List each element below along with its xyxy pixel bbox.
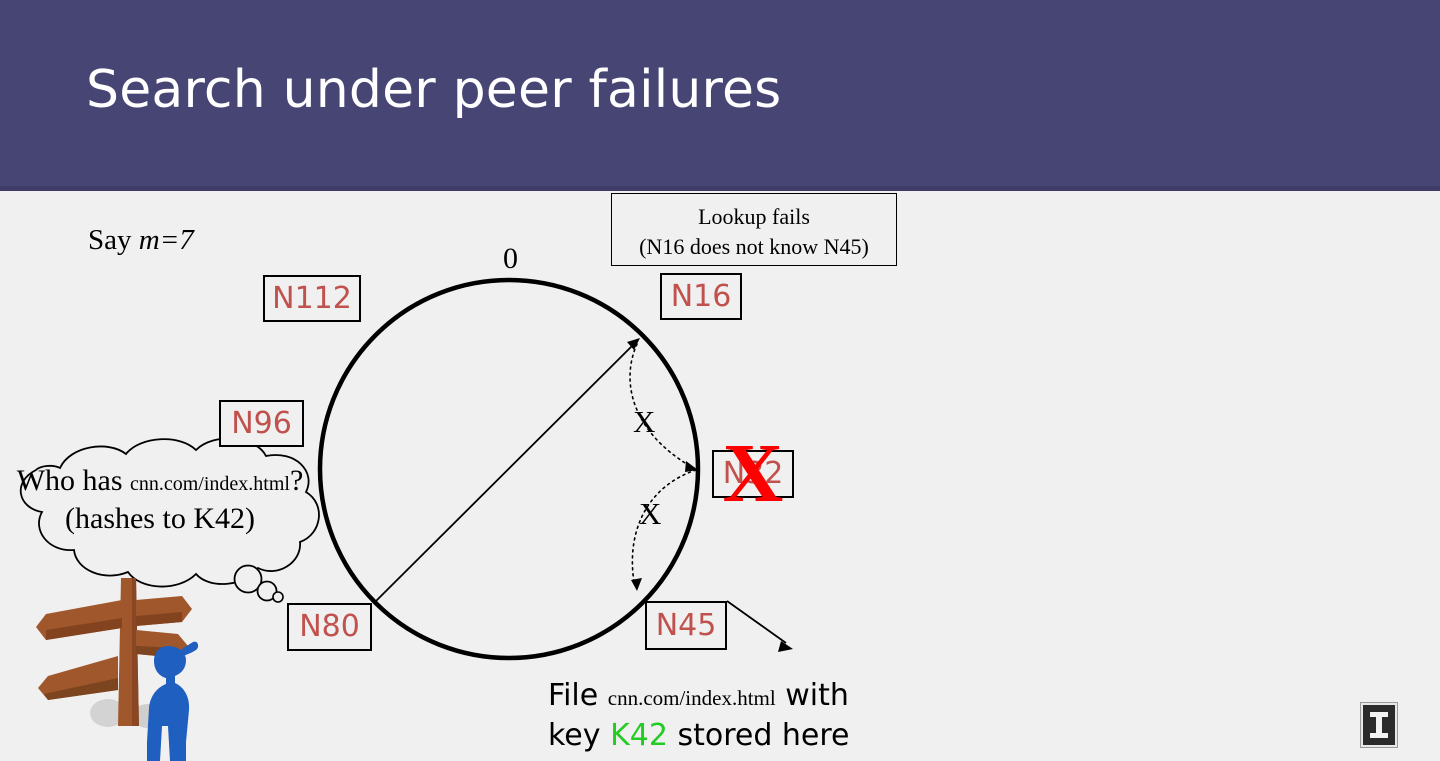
node-box-n96[interactable]: N96 [219, 400, 304, 447]
file-caption-word-file: File [548, 678, 608, 713]
hop-failure-mark-lower: X [639, 496, 661, 532]
file-caption-url: cnn.com/index.html [608, 686, 776, 710]
block-i-glyph [1370, 712, 1388, 738]
block-i-stem [1376, 716, 1382, 735]
node-box-n45[interactable]: N45 [645, 601, 727, 650]
file-location-caption: File cnn.com/index.html with key K42 sto… [548, 676, 850, 756]
slide-canvas: Search under peer failures Say m=7 Looku… [0, 0, 1440, 761]
node-box-n16[interactable]: N16 [660, 273, 742, 320]
file-caption-line-1: File cnn.com/index.html with [548, 676, 850, 716]
node-box-n32[interactable]: N32 [712, 450, 794, 498]
lookup-arrow-n80-to-n16 [376, 338, 640, 601]
file-caption-word-with: with [776, 678, 849, 713]
thought-cloud-outline [21, 439, 319, 587]
node-box-n112[interactable]: N112 [263, 275, 361, 322]
thought-bubble-small [273, 592, 283, 602]
illinois-block-i-logo [1361, 703, 1397, 747]
file-caption-word-stored: stored here [668, 718, 850, 753]
file-caption-line-2: key K42 stored here [548, 716, 850, 756]
file-caption-key-name: K42 [610, 718, 668, 753]
hop-failure-mark-upper: X [633, 404, 655, 440]
node-box-n80[interactable]: N80 [287, 603, 372, 651]
person-silhouette [147, 642, 198, 761]
file-caption-word-key: key [548, 718, 610, 753]
file-location-arrow [727, 601, 793, 652]
